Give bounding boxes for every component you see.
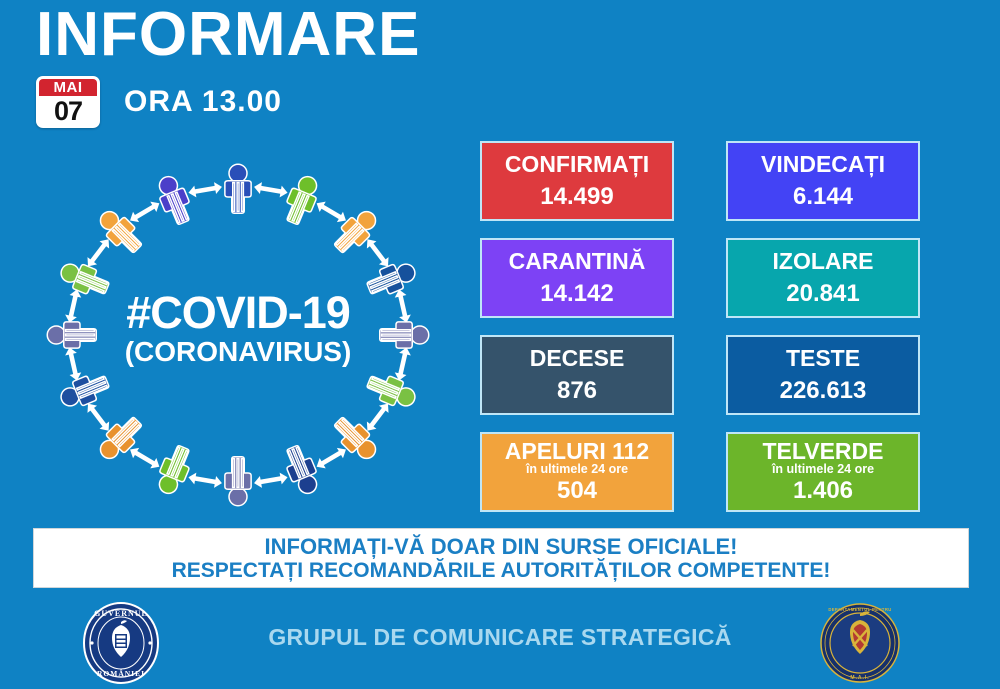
card-value: 504 [557,477,597,505]
card-label: TELVERDE [763,439,884,463]
time-label: ORA 13.00 [124,85,282,119]
footer: GUVERNUL ROMÂNIEI GRUPUL DE COMUNICARE S… [0,598,1000,688]
card-value: 6.144 [793,183,853,211]
card-label: DECESE [530,345,625,371]
card-sublabel: în ultimele 24 ore [772,462,874,476]
card-vindecati: VINDECAȚI 6.144 [726,141,920,221]
card-apeluri-112: APELURI 112 în ultimele 24 ore 504 [480,432,674,512]
card-label: IZOLARE [773,248,874,274]
card-value: 1.406 [793,477,853,505]
svg-text:GUVERNUL: GUVERNUL [94,609,148,618]
advisory-line-1: INFORMAȚI-VĂ DOAR DIN SURSE OFICIALE! [265,534,738,559]
dsu-mai-emblem: DEPARTAMENTUL PENTRU M.A.I. [820,602,900,689]
svg-text:DEPARTAMENTUL PENTRU: DEPARTAMENTUL PENTRU [828,607,891,612]
stat-card-row: DECESE 876 TESTE 226.613 [480,335,926,415]
svg-text:M.A.I.: M.A.I. [850,675,869,681]
card-label: VINDECAȚI [761,151,885,177]
people-circle-svg [28,150,448,520]
advisory-banner: INFORMAȚI-VĂ DOAR DIN SURSE OFICIALE! RE… [33,528,969,588]
card-carantina: CARANTINĂ 14.142 [480,238,674,318]
calendar-month: MAI [39,79,97,96]
card-label: CARANTINĂ [509,248,646,274]
card-telverde: TELVERDE în ultimele 24 ore 1.406 [726,432,920,512]
card-teste: TESTE 226.613 [726,335,920,415]
card-izolare: IZOLARE 20.841 [726,238,920,318]
card-decese: DECESE 876 [480,335,674,415]
infographic-page: INFORMARE MAI 07 ORA 13.00 [0,0,1000,688]
svg-text:ROMÂNIEI: ROMÂNIEI [97,668,145,678]
card-value: 20.841 [786,280,859,308]
calendar-icon: MAI 07 [36,76,100,128]
people-circle-icon: #COVID-19 (CORONAVIRUS) [28,150,448,520]
date-time-bar: MAI 07 ORA 13.00 [36,76,282,128]
stat-card-row: APELURI 112 în ultimele 24 ore 504 TELVE… [480,432,926,512]
calendar-day: 07 [39,96,97,126]
card-value: 14.499 [540,183,613,211]
card-confirmati: CONFIRMAȚI 14.499 [480,141,674,221]
card-label: TESTE [786,345,860,371]
page-title: INFORMARE [36,2,420,67]
card-label: APELURI 112 [505,439,649,463]
card-value: 14.142 [540,280,613,308]
card-value: 876 [557,377,597,405]
card-label: CONFIRMAȚI [505,151,649,177]
advisory-line-2: RESPECTAȚI RECOMANDĂRILE AUTORITĂȚILOR C… [172,559,831,583]
stat-card-row: CARANTINĂ 14.142 IZOLARE 20.841 [480,238,926,318]
stat-cards-grid: CONFIRMAȚI 14.499 VINDECAȚI 6.144 CARANT… [480,141,926,529]
card-value: 226.613 [780,377,867,405]
stat-card-row: CONFIRMAȚI 14.499 VINDECAȚI 6.144 [480,141,926,221]
card-sublabel: în ultimele 24 ore [526,462,628,476]
